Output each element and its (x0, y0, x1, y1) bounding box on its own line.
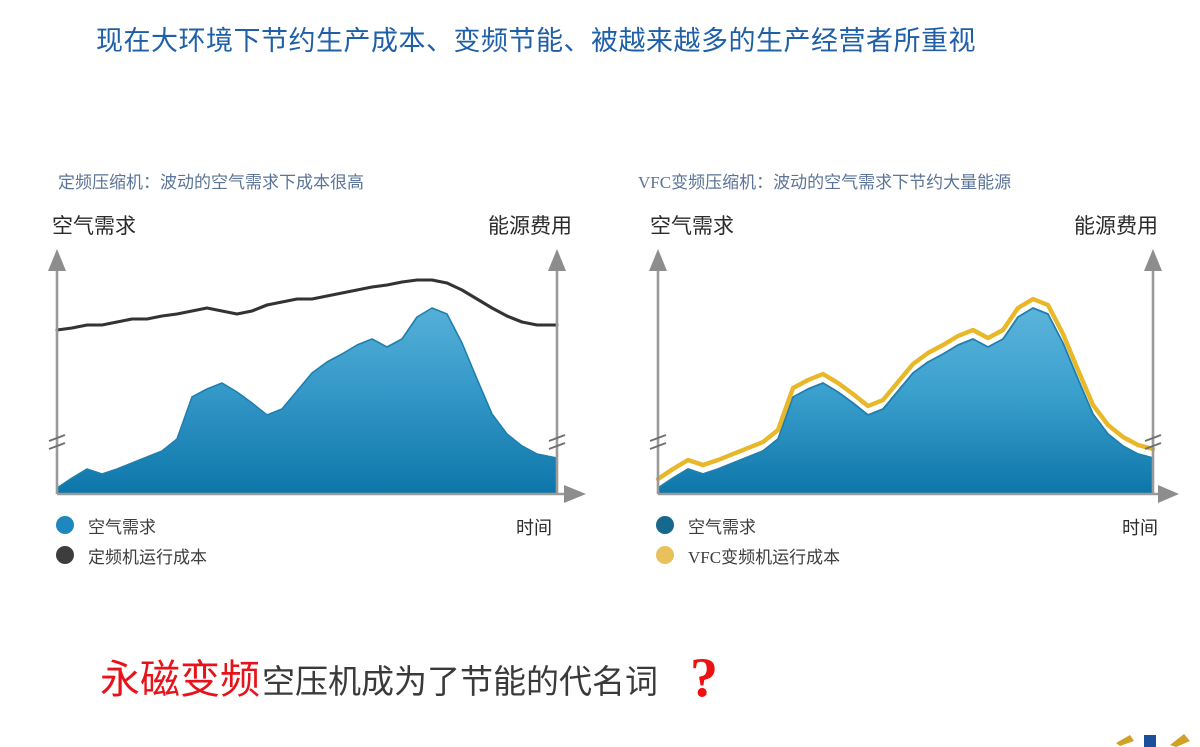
y-axis-label-air-demand-right: 空气需求 (650, 210, 734, 240)
chart-plot-fixed-speed (30, 245, 590, 505)
demand-area-vfc (658, 308, 1153, 494)
y-axis-left-vfc (649, 249, 667, 494)
bottom-tagline-accent: 永磁变频 (100, 660, 260, 700)
y-axis-label-air-demand-left: 空气需求 (52, 210, 136, 240)
legend-dot-vfc-cost (656, 546, 674, 564)
legend-item-fixed-speed-cost[interactable]: 定频机运行成本 (56, 540, 207, 570)
chart-panel-vfc: VFC变频压缩机：波动的空气需求下节约大量能源 空气需求 能源费用 (620, 150, 1180, 600)
legend-label-fixed-speed-cost: 定频机运行成本 (88, 543, 207, 568)
chart-plot-vfc (620, 245, 1180, 505)
chart-legend-vfc: 空气需求 VFC变频机运行成本 (656, 510, 840, 570)
y-axis-label-energy-cost-right: 能源费用 (1074, 210, 1158, 240)
legend-label-vfc-cost: VFC变频机运行成本 (688, 543, 840, 568)
chart-panel-fixed-speed: 定频压缩机：波动的空气需求下成本很高 空气需求 能源费用 (30, 150, 590, 600)
y-axis-left-fixed-speed (48, 249, 66, 494)
legend-dot-air-demand-vfc (656, 516, 674, 534)
bottom-tagline-rest: 空压机成为了节能的代名词 (262, 667, 658, 700)
chart-subtitle-fixed-speed: 定频压缩机：波动的空气需求下成本很高 (58, 168, 364, 193)
cost-line-fixed-speed (57, 280, 557, 330)
chart-subtitle-vfc: VFC变频压缩机：波动的空气需求下节约大量能源 (638, 168, 1011, 193)
corner-logo-mark (1114, 721, 1192, 747)
demand-area-fixed-speed (57, 308, 557, 494)
page-title: 现在大环境下节约生产成本、变频节能、被越来越多的生产经营者所重视 (96, 22, 1116, 60)
legend-item-air-demand[interactable]: 空气需求 (56, 510, 207, 540)
legend-label-air-demand-vfc: 空气需求 (688, 513, 756, 538)
legend-dot-fixed-speed-cost (56, 546, 74, 564)
bottom-tagline: 永磁变频 空压机成为了节能的代名词 (100, 660, 658, 700)
y-axis-label-energy-cost-left: 能源费用 (488, 210, 572, 240)
legend-item-air-demand-vfc[interactable]: 空气需求 (656, 510, 840, 540)
legend-dot-air-demand (56, 516, 74, 534)
x-axis-label-time-left: 时间 (516, 514, 552, 540)
legend-label-air-demand: 空气需求 (88, 513, 156, 538)
legend-item-vfc-cost[interactable]: VFC变频机运行成本 (656, 540, 840, 570)
question-mark: ? (690, 650, 718, 706)
chart-legend-fixed-speed: 空气需求 定频机运行成本 (56, 510, 207, 570)
x-axis-label-time-right: 时间 (1122, 514, 1158, 540)
